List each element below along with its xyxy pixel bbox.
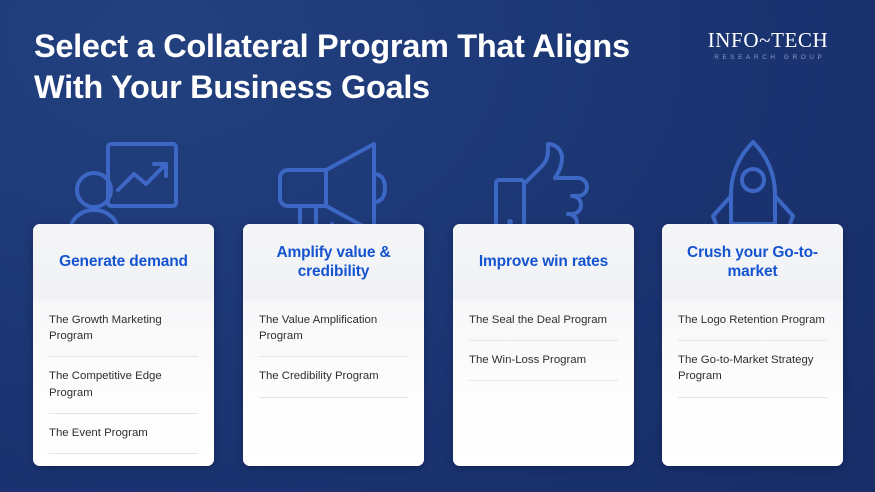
rocket-icon bbox=[662, 136, 843, 232]
logo-tagline: RESEARCH GROUP bbox=[693, 55, 843, 61]
list-item[interactable]: The Logo Retention Program bbox=[678, 300, 827, 341]
card-header: Improve win rates bbox=[453, 224, 634, 300]
list-item[interactable]: The Win-Loss Program bbox=[469, 341, 618, 381]
program-card[interactable]: Generate demand The Growth Marketing Pro… bbox=[33, 224, 214, 466]
list-item[interactable]: The Go-to-Market Strategy Program bbox=[678, 341, 827, 397]
card-title: Crush your Go-to-market bbox=[674, 243, 831, 281]
card-header: Generate demand bbox=[33, 224, 214, 300]
card-title: Amplify value & credibility bbox=[255, 243, 412, 281]
list-item[interactable]: The Credibility Program bbox=[259, 357, 408, 397]
logo-wordmark: INFO~TECH bbox=[693, 30, 843, 51]
card-header: Amplify value & credibility bbox=[243, 224, 424, 300]
list-item[interactable]: The Competitive Edge Program bbox=[49, 357, 198, 413]
card-title: Generate demand bbox=[59, 252, 188, 271]
page-title: Select a Collateral Program That Aligns … bbox=[34, 26, 634, 109]
megaphone-icon bbox=[243, 136, 424, 232]
card-program-list: The Seal the Deal Program The Win-Loss P… bbox=[453, 300, 634, 466]
thumbs-up-icon bbox=[453, 136, 634, 232]
card-program-list: The Value Amplification Program The Cred… bbox=[243, 300, 424, 466]
slide-header: Select a Collateral Program That Aligns … bbox=[0, 0, 875, 118]
program-card[interactable]: Amplify value & credibility The Value Am… bbox=[243, 224, 424, 466]
list-item[interactable]: The Seal the Deal Program bbox=[469, 300, 618, 341]
list-item[interactable]: The Event Program bbox=[49, 414, 198, 454]
program-card[interactable]: Crush your Go-to-market The Logo Retenti… bbox=[662, 224, 843, 466]
card-header: Crush your Go-to-market bbox=[662, 224, 843, 300]
card-title: Improve win rates bbox=[479, 252, 608, 271]
list-item[interactable]: The Value Amplification Program bbox=[259, 300, 408, 357]
slide-canvas: Select a Collateral Program That Aligns … bbox=[0, 0, 875, 492]
list-item[interactable]: The Growth Marketing Program bbox=[49, 300, 198, 357]
card-program-list: The Growth Marketing Program The Competi… bbox=[33, 300, 214, 466]
card-program-list: The Logo Retention Program The Go-to-Mar… bbox=[662, 300, 843, 466]
program-card[interactable]: Improve win rates The Seal the Deal Prog… bbox=[453, 224, 634, 466]
info-tech-logo: INFO~TECH RESEARCH GROUP bbox=[693, 30, 843, 61]
person-growth-chart-icon bbox=[33, 136, 214, 232]
